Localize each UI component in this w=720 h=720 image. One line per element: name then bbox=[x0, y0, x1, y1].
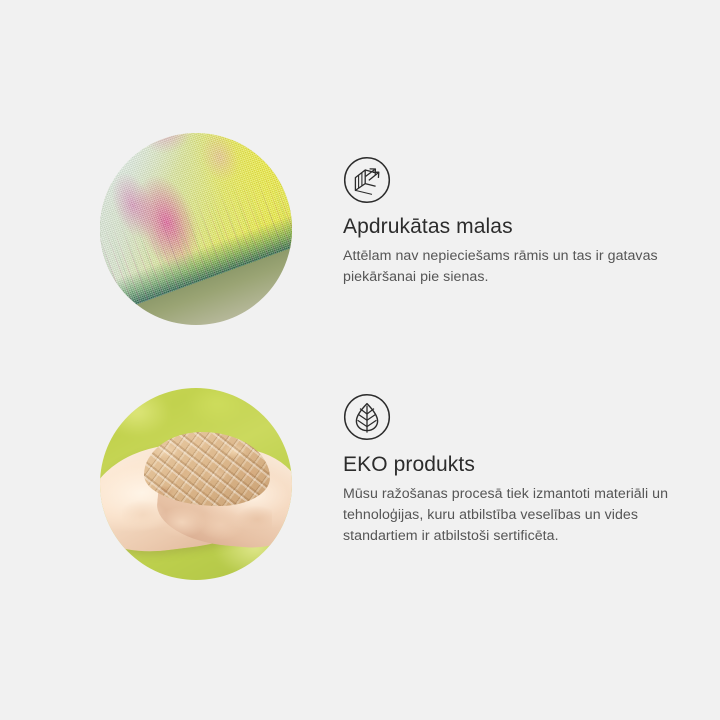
feature-block-printed-edges: Apdrukātas malas Attēlam nav nepieciešam… bbox=[0, 120, 720, 340]
feature-description: Mūsu ražošanas procesā tiek izmantoti ma… bbox=[343, 477, 688, 547]
feature-title: EKO produkts bbox=[343, 441, 688, 477]
hands-with-wood-chips-photo bbox=[100, 388, 292, 580]
feature-title: Apdrukātas malas bbox=[343, 204, 688, 239]
printed-edges-icon bbox=[343, 156, 391, 204]
feature-text-eco-product: EKO produkts Mūsu ražošanas procesā tiek… bbox=[343, 393, 688, 547]
feature-block-eco-product: EKO produkts Mūsu ražošanas procesā tiek… bbox=[0, 382, 720, 602]
canvas-print-corner-photo bbox=[100, 133, 292, 325]
feature-description: Attēlam nav nepieciešams rāmis un tas ir… bbox=[343, 239, 688, 288]
product-features-page: Apdrukātas malas Attēlam nav nepieciešam… bbox=[0, 0, 720, 720]
feature-text-printed-edges: Apdrukātas malas Attēlam nav nepieciešam… bbox=[343, 156, 688, 288]
eco-photo-scene bbox=[100, 388, 292, 580]
leaf-icon bbox=[343, 393, 391, 441]
